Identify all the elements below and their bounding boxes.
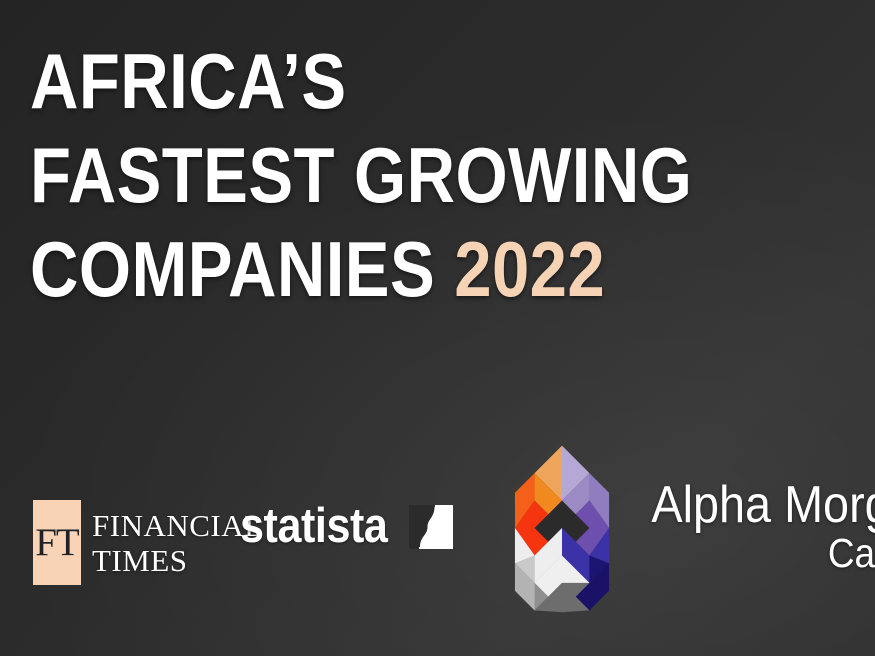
logo-row: FT FINANCIAL TIMES statista [0, 440, 875, 640]
financial-times-logo: FT FINANCIAL TIMES [33, 500, 264, 585]
headline-line-3: COMPANIES 2022 [30, 222, 684, 316]
headline-companies-text: COMPANIES [30, 225, 454, 313]
ft-monogram: FT [35, 523, 79, 562]
ft-badge: FT [33, 500, 81, 585]
headline-year: 2022 [454, 225, 605, 313]
alpha-morgan-wordmark: Alpha Morgan Capital [619, 478, 875, 579]
page-title: AFRICA’S FASTEST GROWING COMPANIES 2022 [30, 34, 790, 316]
statista-logo: statista [240, 502, 453, 551]
ft-word-financial: FINANCIAL [92, 508, 264, 543]
ft-word-times: TIMES [92, 543, 264, 578]
alpha-morgan-capital-logo: Alpha Morgan Capital [513, 443, 875, 613]
ft-wordmark: FINANCIAL TIMES [92, 500, 264, 578]
poster-canvas: AFRICA’S FASTEST GROWING COMPANIES 2022 … [0, 0, 875, 656]
alpha-morgan-name: Alpha Morgan [651, 478, 875, 532]
alpha-morgan-prism-icon [513, 443, 611, 613]
headline-line-2: FASTEST GROWING [30, 128, 684, 222]
headline-line-1: AFRICA’S [30, 34, 684, 128]
statista-wordmark: statista [240, 502, 387, 551]
alpha-morgan-capital-sub: Capital [651, 532, 875, 575]
statista-mark-icon [409, 505, 453, 549]
